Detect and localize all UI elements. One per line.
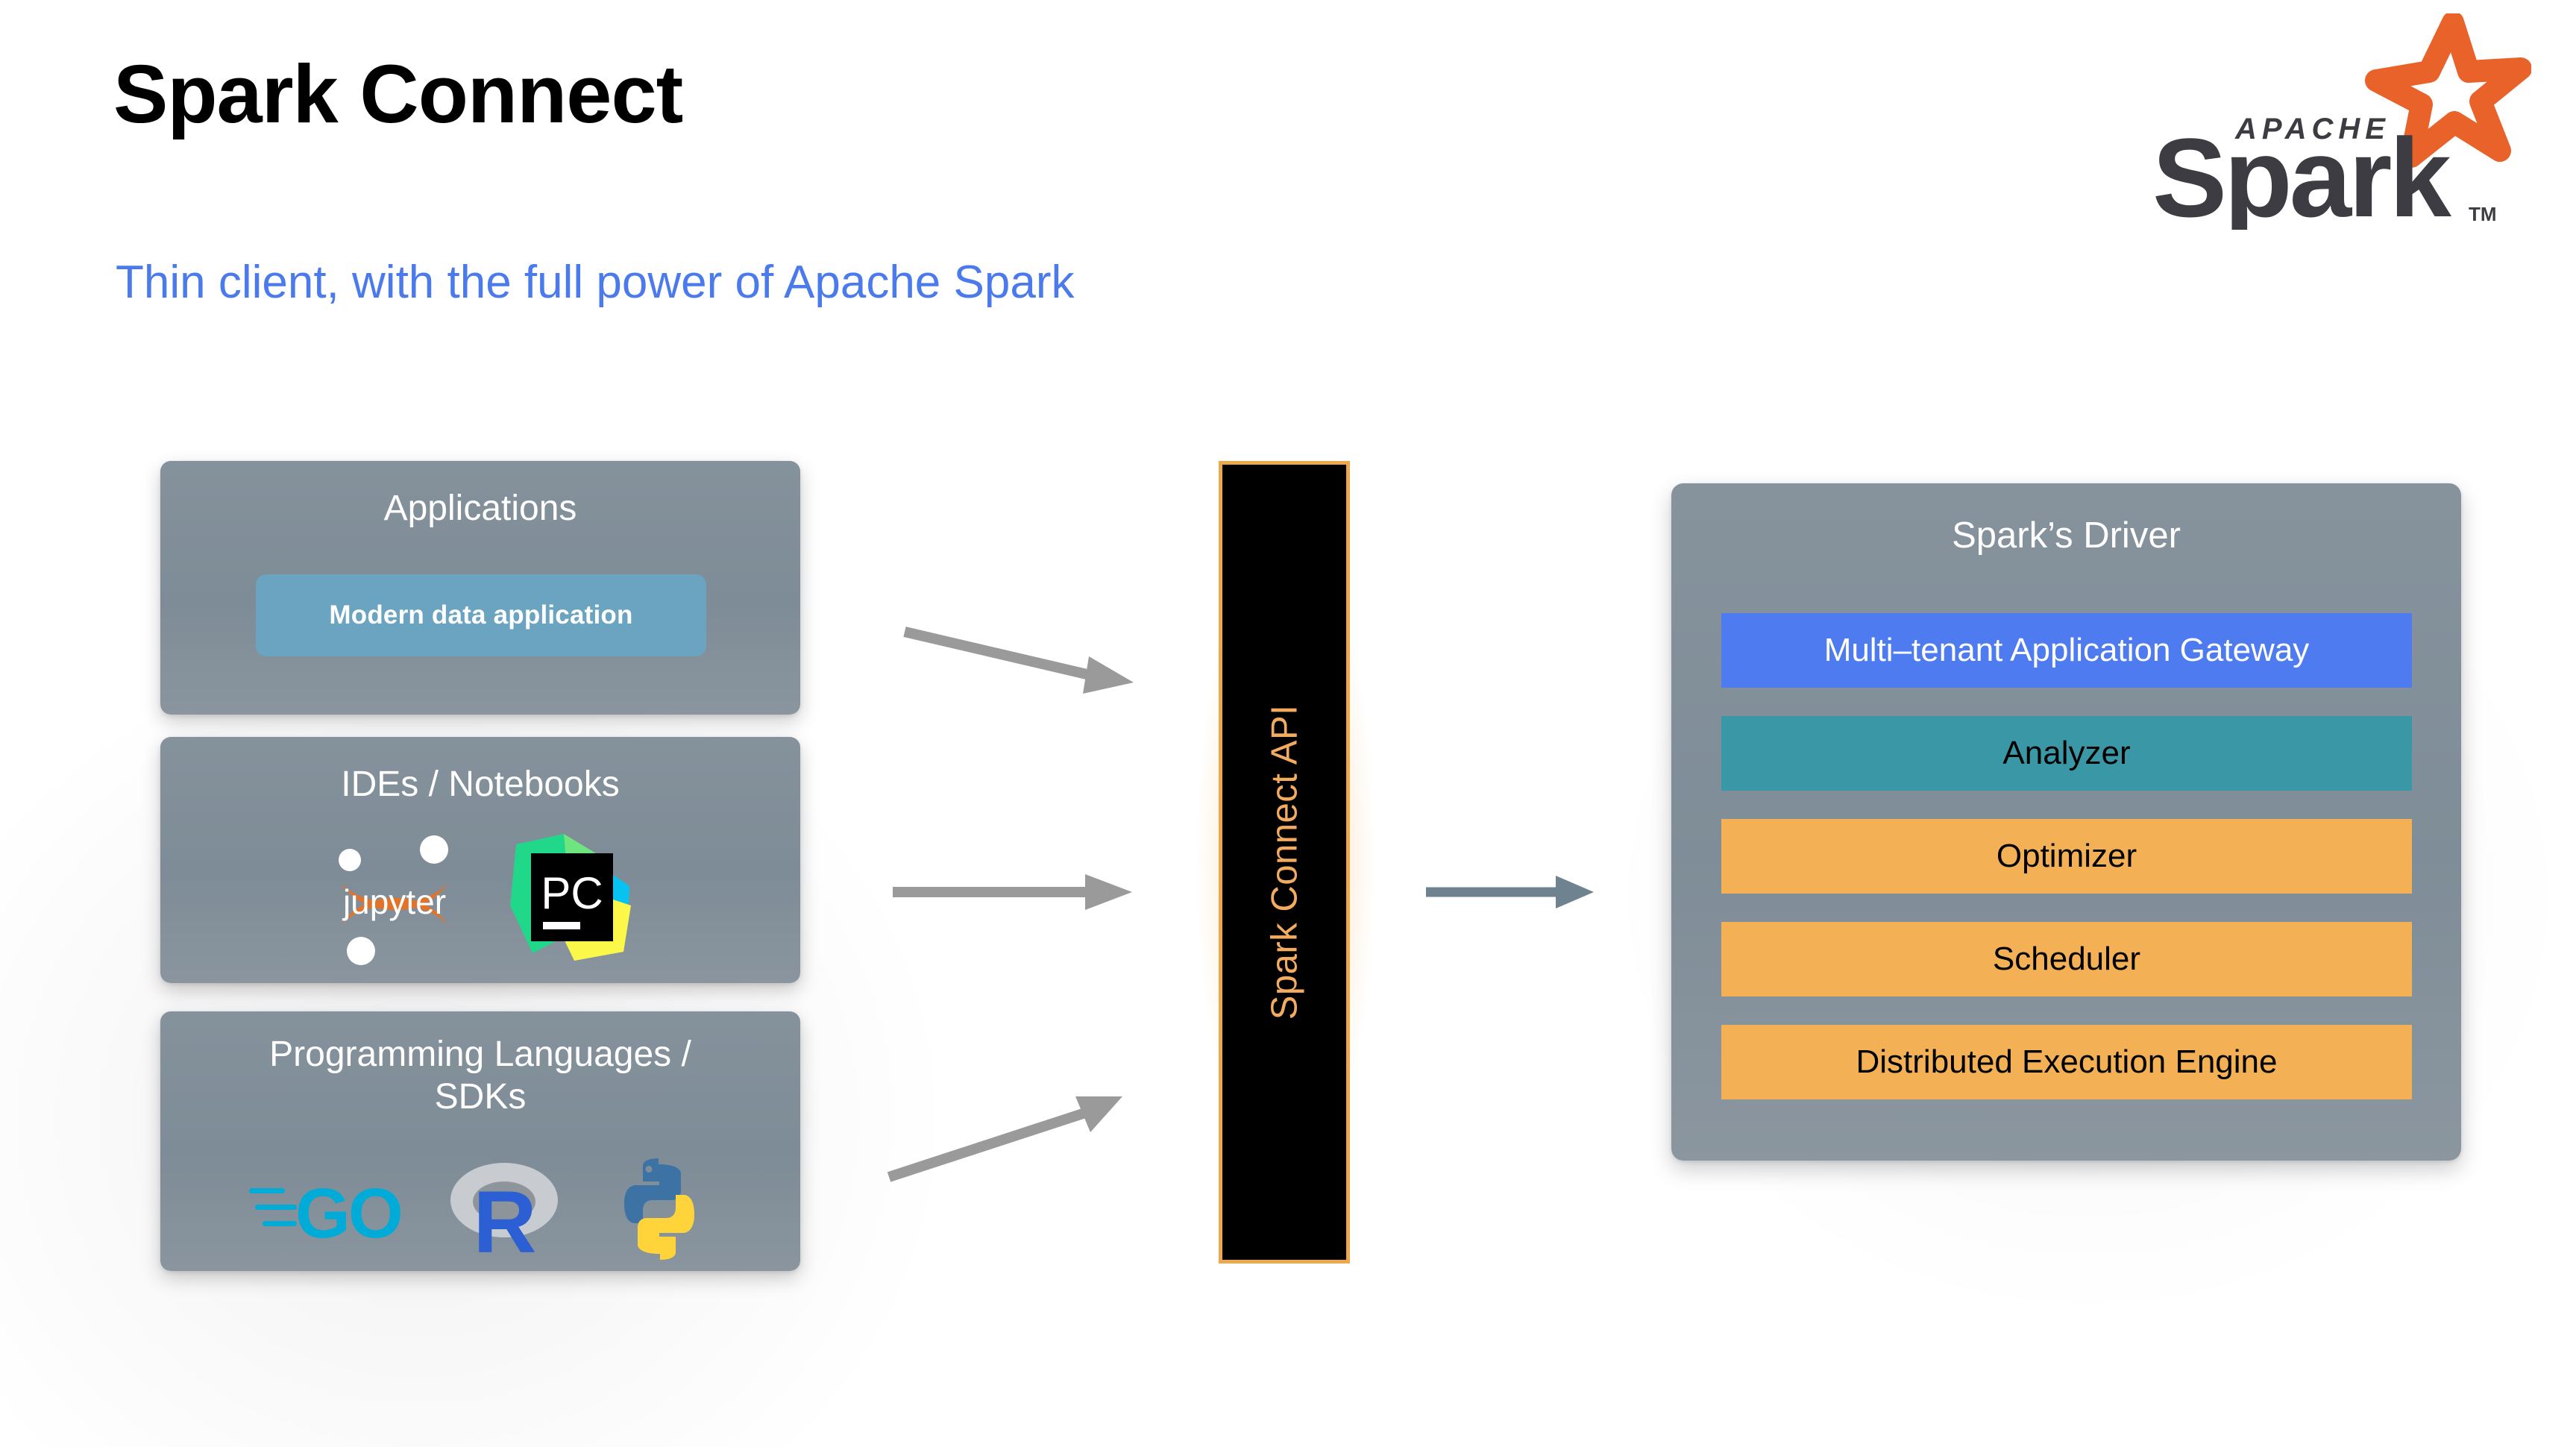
page-subtitle: Thin client, with the full power of Apac… bbox=[116, 260, 1074, 306]
logo-spark-text: Spark bbox=[2152, 115, 2451, 230]
card-applications[interactable]: Applications Modern data application bbox=[160, 461, 800, 715]
driver-layer-distributed-execution-engine[interactable]: Distributed Execution Engine bbox=[1721, 1025, 2412, 1099]
card-applications-title: Applications bbox=[160, 461, 800, 530]
arrow-ides-to-connect bbox=[893, 874, 1132, 910]
spark-connect-api-label: Spark Connect API bbox=[1263, 705, 1305, 1020]
driver-layer-gateway[interactable]: Multi–tenant Application Gateway bbox=[1721, 613, 2412, 688]
pycharm-logo-label: PC bbox=[541, 868, 603, 918]
card-languages-title-line1: Programming Languages / bbox=[269, 1035, 691, 1074]
driver-layer-stack: Multi–tenant Application Gateway Analyze… bbox=[1721, 613, 2412, 1099]
modern-data-application-chip[interactable]: Modern data application bbox=[256, 574, 706, 656]
jupyter-logo: jupyter bbox=[324, 830, 465, 968]
card-languages-title: Programming Languages / SDKs bbox=[160, 1011, 800, 1118]
arrow-languages-to-connect bbox=[889, 1096, 1122, 1177]
arrow-connect-to-driver bbox=[1426, 876, 1594, 908]
logo-trademark-text: TM bbox=[2469, 203, 2497, 225]
r-logo: R bbox=[439, 1157, 570, 1261]
spark-driver-card[interactable]: Spark’s Driver Multi–tenant Application … bbox=[1671, 483, 2461, 1161]
go-logo-label: GO bbox=[295, 1174, 401, 1253]
go-logo: GO bbox=[249, 1164, 402, 1254]
page-title: Spark Connect bbox=[113, 54, 682, 136]
python-logo bbox=[607, 1156, 711, 1262]
jupyter-logo-label: jupyter bbox=[342, 882, 446, 921]
driver-layer-analyzer[interactable]: Analyzer bbox=[1721, 716, 2412, 791]
r-logo-label: R bbox=[473, 1173, 536, 1261]
card-ides-notebooks[interactable]: IDEs / Notebooks jupyter PC bbox=[160, 737, 800, 983]
spark-connect-api-bar[interactable]: Spark Connect API bbox=[1219, 461, 1350, 1264]
card-languages-title-line2: SDKs bbox=[435, 1077, 527, 1117]
card-programming-languages-sdks[interactable]: Programming Languages / SDKs GO R bbox=[160, 1011, 800, 1271]
driver-layer-optimizer[interactable]: Optimizer bbox=[1721, 819, 2412, 894]
driver-layer-scheduler[interactable]: Scheduler bbox=[1721, 922, 2412, 996]
spark-driver-title: Spark’s Driver bbox=[1671, 483, 2461, 556]
card-ides-notebooks-title: IDEs / Notebooks bbox=[160, 737, 800, 806]
pycharm-logo: PC bbox=[510, 834, 637, 964]
apache-spark-logo: APACHE Spark TM bbox=[2114, 13, 2531, 230]
arrow-applications-to-connect bbox=[905, 632, 1134, 694]
